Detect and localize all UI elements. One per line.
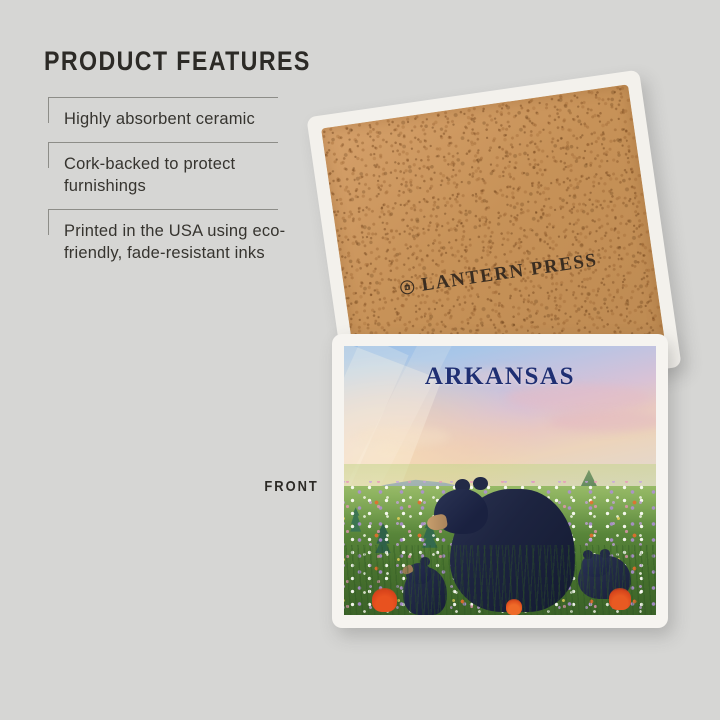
feature-item: Highly absorbent ceramic [44, 97, 294, 142]
indian-paintbrush-flower [506, 599, 522, 615]
cloud [356, 427, 450, 446]
brand-name: LANTERN PRESS [420, 249, 599, 296]
lantern-icon [399, 279, 416, 296]
feature-item-label: Printed in the USA using eco-friendly, f… [64, 220, 294, 264]
mother-bear-ear [473, 477, 487, 490]
page-title: PRODUCT FEATURES [44, 48, 259, 75]
feature-divider [48, 142, 278, 143]
feature-divider [48, 97, 278, 98]
feature-tick [48, 209, 49, 235]
front-label: FRONT [264, 478, 318, 495]
feature-item-label: Cork-backed to protect furnishings [64, 153, 294, 197]
product-image-canvas: PRODUCT FEATURES Highly absorbent cerami… [0, 0, 720, 720]
indian-paintbrush-flower [609, 588, 631, 610]
feature-tick [48, 142, 49, 168]
feature-item: Printed in the USA using eco-friendly, f… [44, 209, 294, 276]
feature-divider [48, 209, 278, 210]
lantern-press-logo: LANTERN PRESS [398, 249, 599, 299]
cloud [550, 411, 656, 433]
product-features-panel: PRODUCT FEATURES Highly absorbent cerami… [44, 48, 294, 277]
feature-tick [48, 97, 49, 123]
indian-paintbrush-flower [372, 588, 397, 612]
artwork-title: ARKANSAS [344, 363, 656, 391]
feature-item-label: Highly absorbent ceramic [64, 108, 294, 130]
feature-item: Cork-backed to protect furnishings [44, 142, 294, 209]
coaster-artwork: ARKANSAS [344, 346, 656, 615]
coaster-front: ARKANSAS [332, 334, 668, 628]
